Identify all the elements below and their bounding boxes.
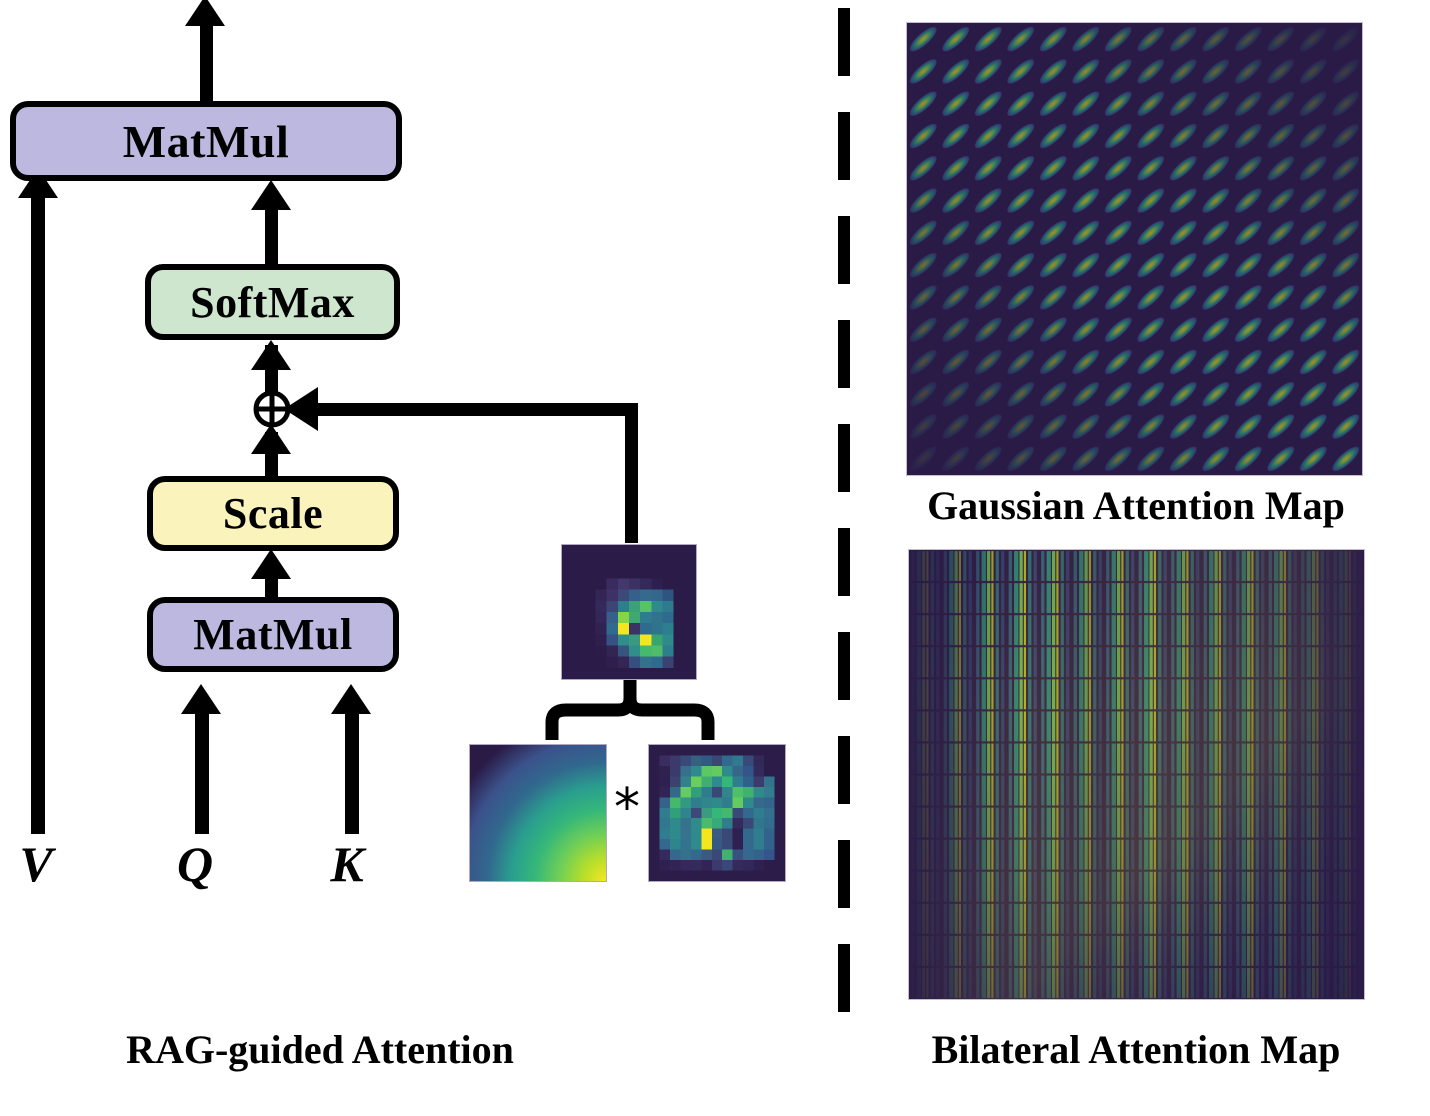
caption-gaussian-attention-map: Gaussian Attention Map	[876, 482, 1396, 529]
node-matmul-top[interactable]: MatMul	[10, 101, 402, 181]
k-arrow-head	[331, 684, 371, 714]
node-scale[interactable]: Scale	[147, 476, 399, 551]
q-arrow-head	[181, 684, 221, 714]
bias-elbow-horizontal	[318, 403, 631, 416]
matmul-to-scale-head	[251, 549, 291, 579]
feature-similarity-thumbnail	[648, 744, 786, 882]
fused-attention-thumbnail	[561, 544, 697, 680]
circle-plus-icon	[252, 389, 292, 429]
v-arrow-shaft	[31, 196, 45, 834]
gaussian-prior-thumbnail	[469, 744, 607, 882]
caption-rag-guided-attention: RAG-guided Attention	[60, 1026, 580, 1073]
input-label-v: V	[8, 835, 64, 893]
input-label-k: K	[312, 835, 382, 893]
panel-divider	[838, 8, 850, 1044]
merge-brace	[540, 678, 720, 744]
gaussian-attention-map	[906, 22, 1363, 476]
output-arrow-shaft	[200, 22, 213, 104]
multiply-symbol: *	[607, 783, 647, 833]
k-arrow-shaft	[345, 712, 359, 834]
node-softmax-label: SoftMax	[190, 277, 355, 328]
node-matmul-bottom-label: MatMul	[193, 609, 352, 660]
bias-elbow-vertical	[625, 403, 638, 543]
caption-bilateral-attention-map: Bilateral Attention Map	[876, 1026, 1396, 1073]
node-softmax[interactable]: SoftMax	[145, 264, 400, 340]
softmax-to-matmul-head	[251, 180, 291, 210]
output-arrow-head	[185, 0, 225, 26]
node-matmul-top-label: MatMul	[123, 115, 290, 168]
add-to-softmax-head	[251, 340, 291, 370]
q-arrow-shaft	[195, 712, 209, 834]
input-label-q: Q	[160, 835, 230, 893]
figure-canvas: MatMul SoftMax Scale MatMul V Q K	[0, 0, 1430, 1116]
softmax-to-matmul-shaft	[265, 206, 278, 268]
bilateral-attention-map	[908, 549, 1365, 1000]
node-scale-label: Scale	[223, 488, 323, 539]
node-matmul-bottom[interactable]: MatMul	[147, 597, 399, 672]
